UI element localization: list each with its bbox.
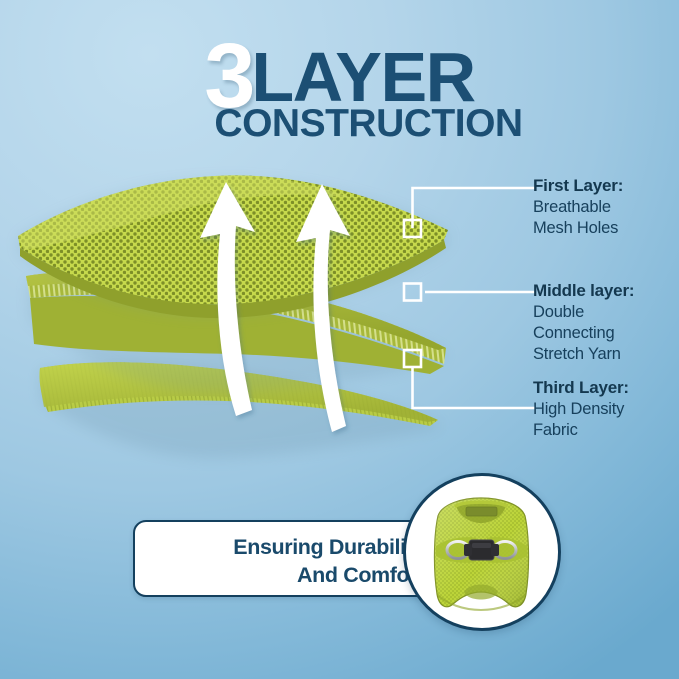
callout-first-layer-line-1: Breathable bbox=[533, 197, 679, 218]
callout-first-layer-heading: First Layer: bbox=[533, 175, 679, 197]
product-photo-circle bbox=[403, 473, 561, 631]
callout-middle-layer-line-3: Stretch Yarn bbox=[533, 344, 679, 365]
tagline-text: Ensuring Durability And Comfort bbox=[135, 533, 424, 590]
callout-middle-layer: Middle layer: Double Connecting Stretch … bbox=[533, 280, 679, 365]
callout-first-layer: First Layer: Breathable Mesh Holes bbox=[533, 175, 679, 239]
dog-harness-photo bbox=[406, 476, 557, 627]
callout-first-layer-line-2: Mesh Holes bbox=[533, 218, 679, 239]
infographic-canvas: 3 LAYER CONSTRUCTION bbox=[0, 0, 679, 679]
tagline-line-1: Ensuring Durability bbox=[135, 533, 424, 561]
tagline-line-2: And Comfort bbox=[135, 561, 424, 589]
callout-third-layer-line-2: Fabric bbox=[533, 420, 679, 441]
callout-third-layer-line-1: High Density bbox=[533, 399, 679, 420]
callout-middle-layer-line-1: Double bbox=[533, 302, 679, 323]
fabric-layer-stack-illustration bbox=[0, 120, 460, 480]
callout-middle-layer-heading: Middle layer: bbox=[533, 280, 679, 302]
callout-middle-layer-line-2: Connecting bbox=[533, 323, 679, 344]
harness-buckle bbox=[464, 540, 499, 560]
callout-third-layer-heading: Third Layer: bbox=[533, 377, 679, 399]
callout-third-layer: Third Layer: High Density Fabric bbox=[533, 377, 679, 441]
